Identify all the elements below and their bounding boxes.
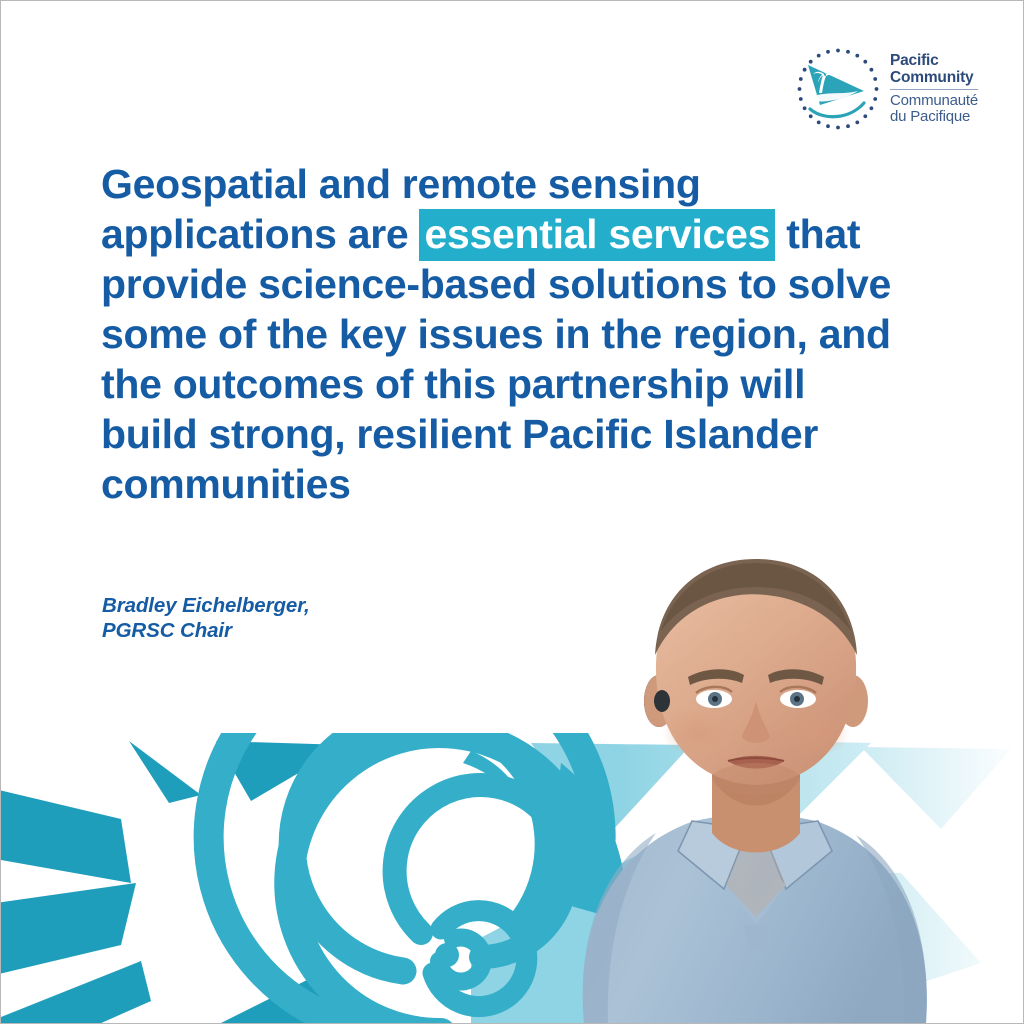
logo-name-fr-line1: Communauté bbox=[890, 93, 978, 109]
portrait-photo bbox=[456, 533, 1024, 1023]
quote-highlight: essential services bbox=[419, 209, 775, 261]
scp-logo-icon bbox=[796, 47, 880, 131]
head bbox=[644, 559, 868, 795]
logo-name-en-line2: Community bbox=[890, 70, 978, 86]
quote-card: Pacific Community Communauté du Pacifiqu… bbox=[0, 0, 1024, 1024]
logo-name-fr-line2: du Pacifique bbox=[890, 109, 978, 125]
attribution-name: Bradley Eichelberger, bbox=[102, 593, 310, 618]
man-portrait-illustration bbox=[456, 533, 1024, 1023]
scp-logo-wordmark: Pacific Community Communauté du Pacifiqu… bbox=[890, 53, 978, 125]
scp-logo: Pacific Community Communauté du Pacifiqu… bbox=[796, 39, 991, 139]
attribution-role: PGRSC Chair bbox=[102, 618, 310, 643]
logo-divider bbox=[890, 89, 978, 90]
earbud-icon bbox=[654, 690, 670, 712]
logo-name-en-line1: Pacific bbox=[890, 53, 978, 69]
attribution-block: Bradley Eichelberger, PGRSC Chair bbox=[102, 593, 310, 643]
hull-arc-icon bbox=[810, 103, 864, 117]
quote-text: Geospatial and remote sensing applicatio… bbox=[101, 159, 901, 509]
